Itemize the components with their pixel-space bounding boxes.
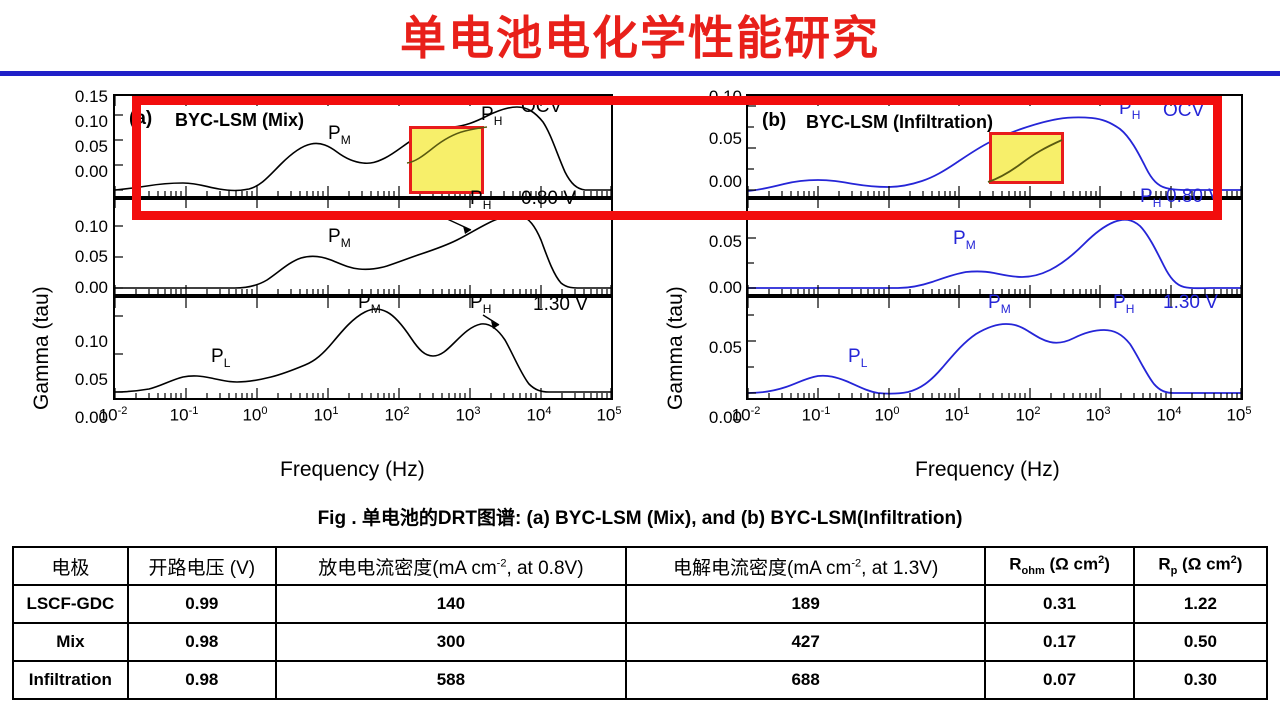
panel-a-130v-voltage: 1.30 V [533, 294, 588, 316]
table-header-row: 电极 开路电压 (V) 放电电流密度(mA cm-2, at 0.8V) 电解电… [13, 547, 1267, 585]
panel-b-xtick-6: 104 [1144, 405, 1194, 426]
title-divider [0, 71, 1280, 76]
panel-b-tag: (b) [762, 110, 786, 132]
panel-a-130v-peak-pl: PL [211, 346, 230, 370]
panel-b-xtick-4: 102 [1003, 405, 1053, 426]
panel-b-sp2-ytick-1: 0.00 [692, 278, 742, 298]
panel-b-sp1-ytick-0: 0.10 [692, 87, 742, 107]
panel-a-130v-peak-ph: PH [470, 292, 491, 316]
panel-a-xlabel: Frequency (Hz) [280, 458, 425, 482]
table-row: Mix 0.98 300 427 0.17 0.50 [13, 623, 1267, 661]
panel-a-080v-peak-pm: PM [328, 226, 351, 250]
panel-b-080v-peak-ph: PH [1140, 186, 1161, 210]
panel-b-sp2-ytick-0: 0.05 [692, 232, 742, 252]
cell-rohm: 0.17 [985, 623, 1133, 661]
panel-b-sp3-ytick-0: 0.05 [692, 338, 742, 358]
cell-electrolysis: 189 [626, 585, 985, 623]
cell-ocv: 0.98 [128, 623, 276, 661]
panel-a-xtick-0: 10-2 [88, 405, 138, 426]
cell-discharge: 588 [276, 661, 626, 699]
panel-b-080v-peak-pm: PM [953, 228, 976, 252]
panel-b-080v-curve [748, 200, 1241, 294]
panel-a-sp2-ytick-0: 0.10 [58, 217, 108, 237]
panel-a-xtick-4: 102 [372, 405, 422, 426]
panel-a-sp2-ytick-1: 0.05 [58, 247, 108, 267]
table-row: Infiltration 0.98 588 688 0.07 0.30 [13, 661, 1267, 699]
cell-discharge: 140 [276, 585, 626, 623]
table-header-discharge: 放电电流密度(mA cm-2, at 0.8V) [276, 547, 626, 585]
panel-a-subplot-ocv: (a) BYC-LSM (Mix) OCV PM PH [113, 94, 613, 198]
panel-a-sp3-ytick-0: 0.10 [58, 332, 108, 352]
panel-b-subplot-ocv: (b) BYC-LSM (Infiltration) OCV PH [746, 94, 1243, 198]
panel-a-080v-curve [115, 200, 611, 294]
panel-a-080v-voltage: 0.80 V [521, 188, 576, 210]
table-row: LSCF-GDC 0.99 140 189 0.31 1.22 [13, 585, 1267, 623]
chart-panel-b: Gamma (tau) Frequency (Hz) 0.10 0.05 0.0… [640, 80, 1280, 495]
table-header-electrode: 电极 [13, 547, 128, 585]
page-title: 单电池电化学性能研究 [0, 2, 1280, 68]
cell-electrolysis: 688 [626, 661, 985, 699]
panel-b-xtick-2: 100 [862, 405, 912, 426]
cell-ocv: 0.99 [128, 585, 276, 623]
panel-a-sp1-ytick-1: 0.10 [58, 112, 108, 132]
cell-ocv: 0.98 [128, 661, 276, 699]
panel-a-xtick-2: 100 [230, 405, 280, 426]
panel-a-name: BYC-LSM (Mix) [175, 110, 304, 131]
panel-a-ocv-peak-pm: PM [328, 123, 351, 147]
panel-b-name: BYC-LSM (Infiltration) [806, 112, 993, 133]
panel-b-sp1-ytick-1: 0.05 [692, 129, 742, 149]
cell-rp: 0.50 [1134, 623, 1267, 661]
panel-b-xtick-5: 103 [1073, 405, 1123, 426]
panel-b-subplot-080v: 0.80 V PM PH [746, 198, 1243, 296]
panel-a-ylabel: Gamma (tau) [30, 286, 54, 410]
cell-electrode: Mix [13, 623, 128, 661]
panel-a-tag: (a) [129, 108, 152, 130]
panel-b-ocv-peak-ph: PH [1119, 98, 1140, 122]
panel-a-sp2-ytick-2: 0.00 [58, 278, 108, 298]
panel-a-sp3-ytick-1: 0.05 [58, 370, 108, 390]
panel-a-130v-peak-pm: PM [358, 292, 381, 316]
panel-b-130v-peak-ph: PH [1113, 292, 1134, 316]
panel-a-xtick-5: 103 [443, 405, 493, 426]
panel-b-subplot-130v: 1.30 V PL PM PH [746, 296, 1243, 400]
panel-a-highlight-box [409, 126, 484, 194]
cell-discharge: 300 [276, 623, 626, 661]
cell-rohm: 0.31 [985, 585, 1133, 623]
panel-b-sp1-ytick-2: 0.00 [692, 172, 742, 192]
panel-a-sp1-ytick-3: 0.00 [58, 162, 108, 182]
cell-electrode: LSCF-GDC [13, 585, 128, 623]
table-header-electrolysis: 电解电流密度(mA cm-2, at 1.3V) [626, 547, 985, 585]
panel-b-xtick-3: 101 [932, 405, 982, 426]
panel-a-sp1-ytick-2: 0.05 [58, 137, 108, 157]
panel-a-subplot-080v: 0.80 V PM PH [113, 198, 613, 296]
figure-area: Gamma (tau) Frequency (Hz) 0.15 0.10 0.0… [0, 80, 1280, 495]
table-header-ocv: 开路电压 (V) [128, 547, 276, 585]
panel-a-xtick-3: 101 [301, 405, 351, 426]
panel-b-highlight-box [989, 132, 1064, 184]
panel-b-xtick-1: 10-1 [791, 405, 841, 426]
table-header-rp: Rp (Ω cm2) [1134, 547, 1267, 585]
panel-a-xtick-7: 105 [584, 405, 634, 426]
panel-b-130v-peak-pl: PL [848, 346, 867, 370]
chart-panel-a: Gamma (tau) Frequency (Hz) 0.15 0.10 0.0… [0, 80, 640, 495]
panel-b-130v-voltage: 1.30 V [1163, 292, 1218, 314]
panel-a-080v-peak-ph: PH [470, 188, 491, 212]
cell-rohm: 0.07 [985, 661, 1133, 699]
panel-a-sp1-ytick-0: 0.15 [58, 87, 108, 107]
results-table: 电极 开路电压 (V) 放电电流密度(mA cm-2, at 0.8V) 电解电… [12, 546, 1268, 700]
panel-a-xtick-6: 104 [514, 405, 564, 426]
panel-b-xtick-0: 10-2 [721, 405, 771, 426]
panel-b-ylabel: Gamma (tau) [664, 286, 688, 410]
panel-b-xtick-7: 105 [1214, 405, 1264, 426]
cell-electrolysis: 427 [626, 623, 985, 661]
cell-rp: 1.22 [1134, 585, 1267, 623]
panel-b-ocv-voltage: OCV [1163, 100, 1204, 122]
cell-electrode: Infiltration [13, 661, 128, 699]
panel-b-130v-peak-pm: PM [988, 292, 1011, 316]
panel-a-subplot-130v: 1.30 V PL PM PH [113, 296, 613, 400]
panel-a-ocv-peak-ph: PH [481, 104, 502, 128]
panel-a-xtick-1: 10-1 [159, 405, 209, 426]
panel-a-ocv-voltage: OCV [521, 96, 562, 118]
cell-rp: 0.30 [1134, 661, 1267, 699]
figure-caption: Fig . 单电池的DRT图谱: (a) BYC-LSM (Mix), and … [0, 503, 1280, 530]
panel-b-xlabel: Frequency (Hz) [915, 458, 1060, 482]
panel-b-080v-voltage: 0.80 V [1166, 186, 1221, 208]
table-header-rohm: Rohm (Ω cm2) [985, 547, 1133, 585]
